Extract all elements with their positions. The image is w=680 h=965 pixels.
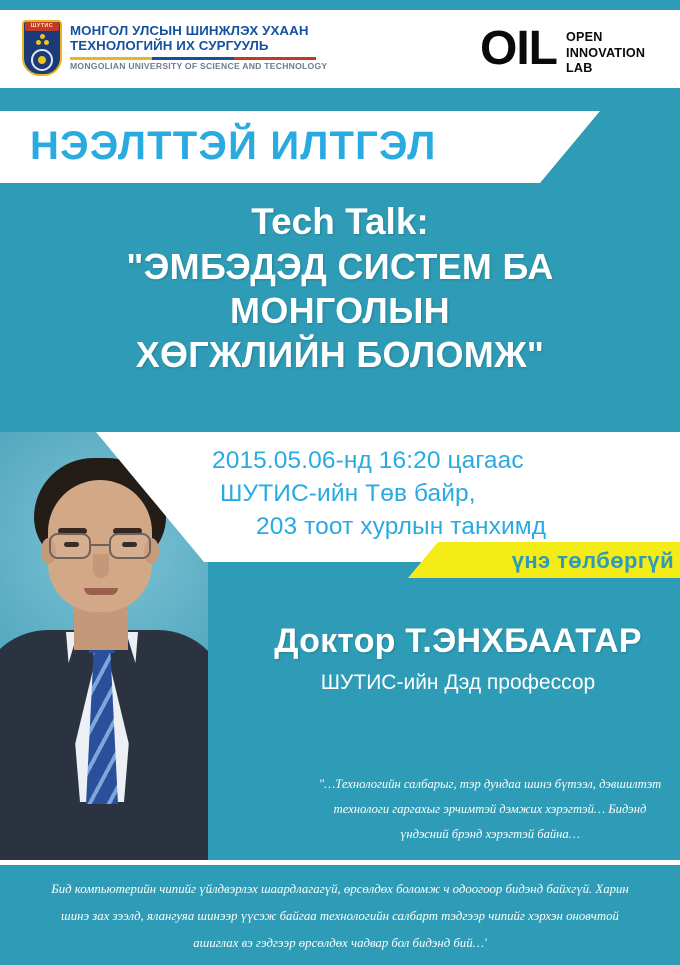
pull-quote-bottom: Бид компьютерийн чипийг үйлдвэрлэх шаард… <box>44 876 636 957</box>
top-accent-strip <box>0 0 680 10</box>
event-poster: ШУТИС МОНГОЛ УЛСЫН ШИНЖЛЭХ УХААН ТЕХНОЛО… <box>0 0 680 965</box>
university-name-line1: МОНГОЛ УЛСЫН ШИНЖЛЭХ УХААН <box>70 24 327 39</box>
event-room: 203 тоот хурлын танхимд <box>212 510 667 543</box>
soyombo-icon <box>35 34 49 47</box>
university-name-english: MONGOLIAN UNIVERSITY OF SCIENCE AND TECH… <box>70 62 327 72</box>
oil-lab-logo: OIL OPEN INNOVATION LAB <box>480 26 645 77</box>
talk-title-line3: ХӨГЖЛИЙН БОЛОМЖ" <box>0 333 680 377</box>
portrait-mouth <box>84 588 118 595</box>
oil-wordmark: OIL <box>480 26 557 72</box>
university-name-block: МОНГОЛ УЛСЫН ШИНЖЛЭХ УХААН ТЕХНОЛОГИЙН И… <box>70 24 327 71</box>
oil-expansion-text: OPEN INNOVATION LAB <box>566 26 645 77</box>
speaker-name: Доктор Т.ЭНХБААТАР <box>236 620 680 662</box>
tricolor-rule <box>70 57 316 60</box>
talk-title-line1: "ЭМБЭДЭД СИСТЕМ БА <box>0 245 680 289</box>
oil-word-open: OPEN <box>566 30 645 46</box>
talk-title-line2: МОНГОЛЫН <box>0 289 680 333</box>
event-datetime: 2015.05.06-нд 16:20 цагаас <box>212 444 667 477</box>
pull-quote-top: "…Технологийн салбарыг, тэр дундаа шинэ … <box>312 772 668 847</box>
talk-title-block: Tech Talk: "ЭМБЭДЭД СИСТЕМ БА МОНГОЛЫН Х… <box>0 198 680 377</box>
talk-title-eyebrow: Tech Talk: <box>0 198 680 245</box>
university-name-line2: ТЕХНОЛОГИЙН ИХ СУРГУУЛЬ <box>70 39 327 54</box>
free-admission-label: үнэ төлбөргүй <box>444 548 680 574</box>
event-info-text: 2015.05.06-нд 16:20 цагаас ШУТИС-ийн Төв… <box>212 444 667 543</box>
section-divider <box>0 860 680 865</box>
university-crest-icon: ШУТИС <box>22 20 62 76</box>
speaker-block: Доктор Т.ЭНХБААТАР ШУТИС-ийн Дэд професс… <box>236 620 680 698</box>
event-venue: ШУТИС-ийн Төв байр, <box>212 477 667 510</box>
oil-word-innovation: INNOVATION <box>566 46 645 62</box>
university-logo: ШУТИС МОНГОЛ УЛСЫН ШИНЖЛЭХ УХААН ТЕХНОЛО… <box>22 20 327 76</box>
crest-abbr-label: ШУТИС <box>25 22 59 31</box>
portrait-nose <box>93 554 109 578</box>
speaker-role: ШУТИС-ийн Дэд профессор <box>236 662 680 698</box>
banner-label: НЭЭЛТТЭЙ ИЛТГЭЛ <box>30 124 436 169</box>
poster-header: ШУТИС МОНГОЛ УЛСЫН ШИНЖЛЭХ УХААН ТЕХНОЛО… <box>0 10 680 88</box>
oil-word-lab: LAB <box>566 61 645 77</box>
crest-wheel-icon <box>31 49 53 71</box>
open-lecture-banner: НЭЭЛТТЭЙ ИЛТГЭЛ <box>0 111 600 183</box>
